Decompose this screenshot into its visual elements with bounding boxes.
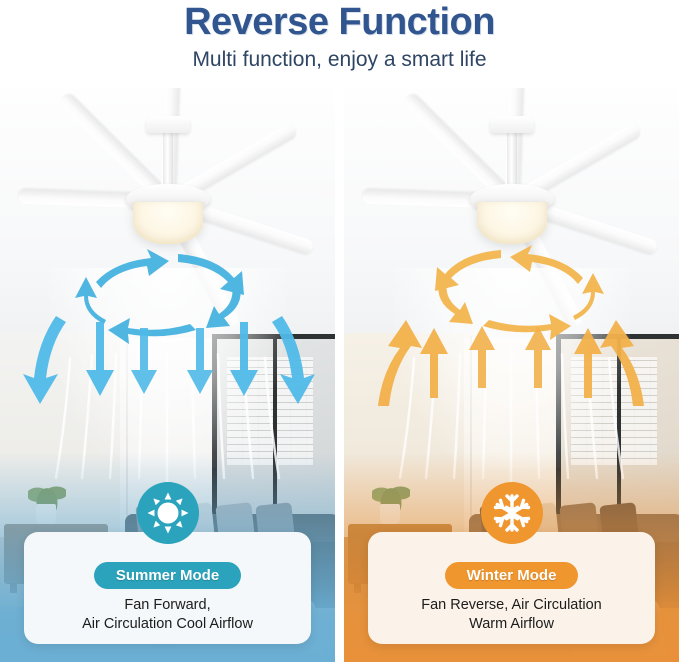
mode-badge-winter[interactable]: Winter Mode: [445, 562, 579, 589]
info-card-summer: Summer Mode Fan Forward, Air Circulation…: [24, 532, 311, 644]
header: Reverse Function Multi function, enjoy a…: [0, 0, 679, 88]
brick-wall: [227, 357, 313, 465]
mode-description-summer: Fan Forward, Air Circulation Cool Airflo…: [82, 596, 253, 634]
mode-badge-summer[interactable]: Summer Mode: [94, 562, 241, 589]
comparison-panels: Summer Mode Fan Forward, Air Circulation…: [0, 88, 679, 662]
fan-canopy: [146, 116, 190, 133]
fan-light-kit: [477, 202, 547, 244]
panel-summer: Summer Mode Fan Forward, Air Circulation…: [0, 88, 335, 662]
panel-winter: Winter Mode Fan Reverse, Air Circulation…: [344, 88, 679, 662]
fan-canopy: [490, 116, 534, 133]
ceiling-fan-summer: [3, 106, 333, 316]
sun-icon: [146, 491, 190, 535]
mode-description-winter: Fan Reverse, Air Circulation Warm Airflo…: [421, 596, 602, 634]
snowflake-icon: [492, 493, 532, 533]
page-title: Reverse Function: [184, 0, 495, 45]
page-subtitle: Multi function, enjoy a smart life: [192, 46, 486, 74]
infographic-page: Reverse Function Multi function, enjoy a…: [0, 0, 679, 662]
ceiling-fan-winter: [347, 106, 677, 316]
info-card-winter: Winter Mode Fan Reverse, Air Circulation…: [368, 532, 655, 644]
fan-light-kit: [133, 202, 203, 244]
fan-downrod: [163, 131, 173, 189]
badge-winter: [481, 482, 543, 544]
badge-summer: [137, 482, 199, 544]
fan-downrod: [507, 131, 517, 189]
brick-wall: [571, 357, 657, 465]
